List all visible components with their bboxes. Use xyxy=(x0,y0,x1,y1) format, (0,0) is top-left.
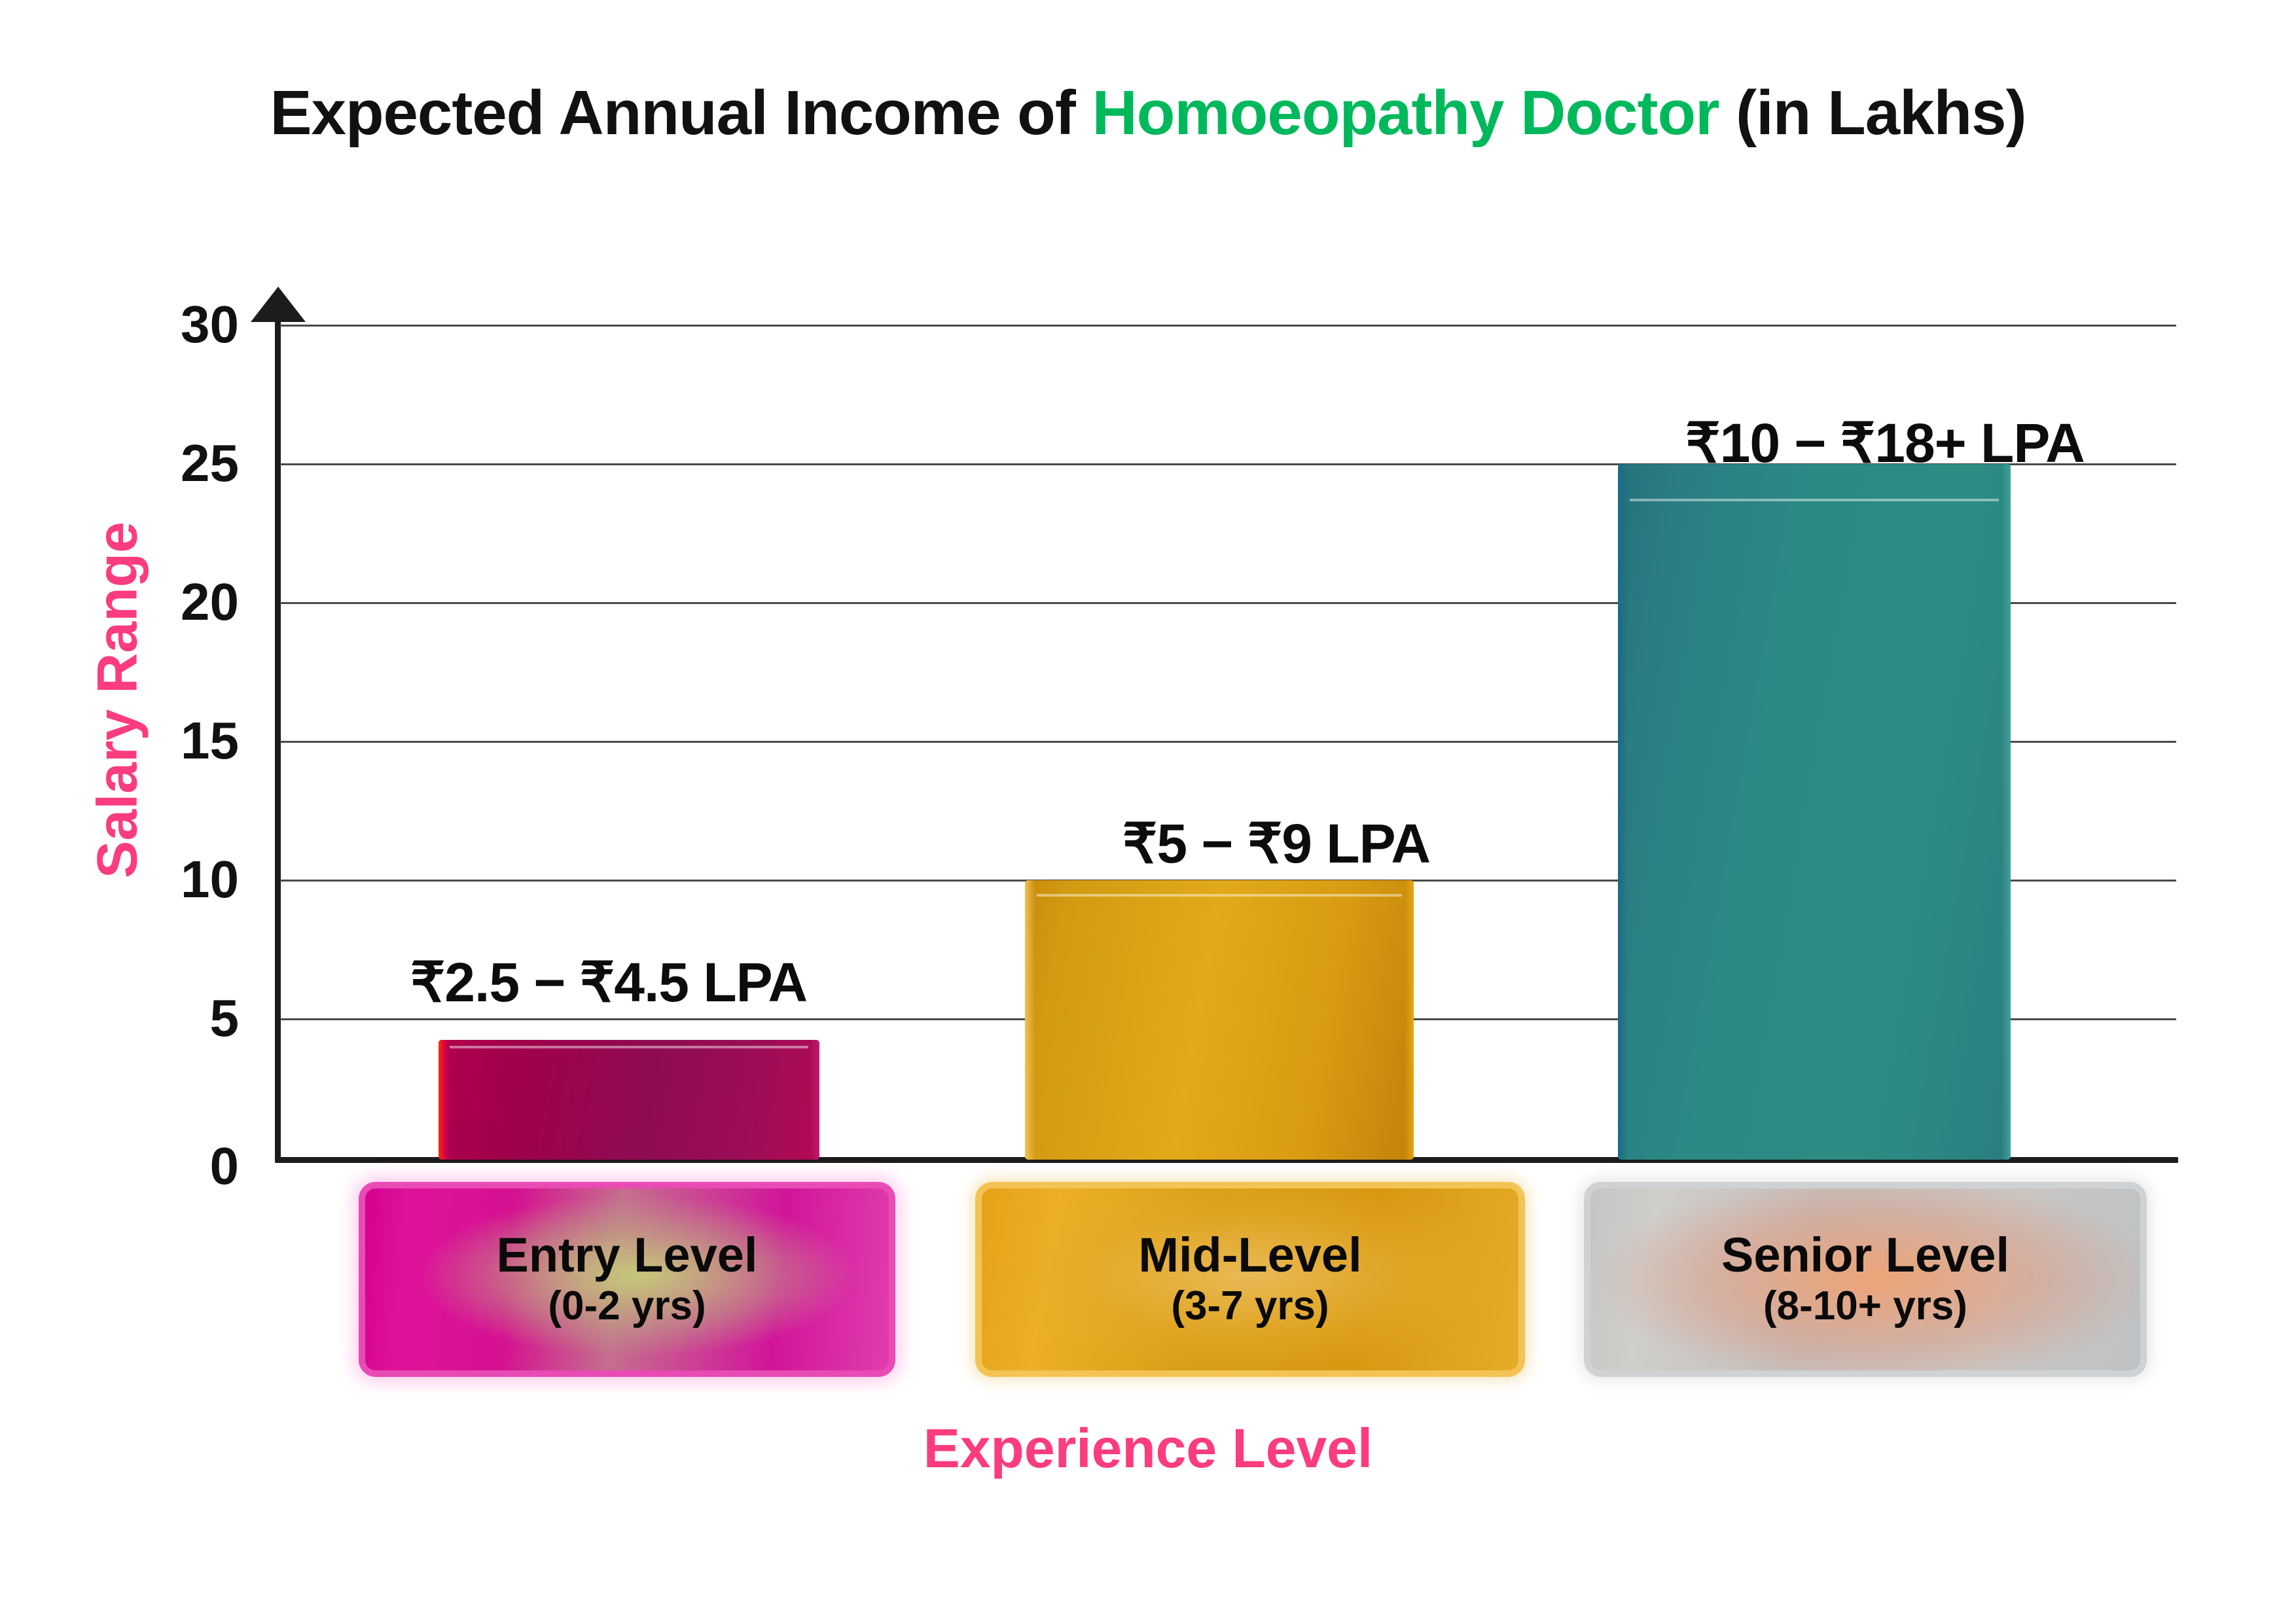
bar-edge-left-mid-level xyxy=(1025,880,1035,1160)
bar-edge-right-mid-level xyxy=(1405,880,1414,1160)
title-text-accent: Homoeopathy Doctor xyxy=(1092,78,1719,148)
bar-value-label-senior-level: ₹10 − ₹18+ LPA xyxy=(1525,411,2245,475)
bar-highlight-mid-level xyxy=(1037,894,1402,897)
bar-edge-left-entry-level xyxy=(439,1040,449,1160)
ytick-label-10: 10 xyxy=(181,853,239,906)
category-label-entry-level: Entry Level xyxy=(497,1230,758,1279)
category-label-senior-level: Senior Level xyxy=(1721,1230,2009,1279)
bar-face-senior-level xyxy=(1618,464,2011,1160)
ytick-label-15: 15 xyxy=(181,715,239,767)
category-years-senior-level: (8-10+ yrs) xyxy=(1763,1284,1967,1329)
title-text-after: (in Lakhs) xyxy=(1719,78,2026,148)
title-text-before: Expected Annual Income of xyxy=(270,78,1092,148)
bar-edge-right-entry-level xyxy=(810,1040,819,1160)
bar-face-mid-level xyxy=(1025,880,1414,1160)
bar-senior-level[interactable] xyxy=(1618,464,2011,1160)
ytick-label-0: 0 xyxy=(210,1140,240,1192)
category-plaque-entry-level[interactable]: Entry Level (0-2 yrs) xyxy=(359,1182,895,1377)
bar-face-entry-level xyxy=(439,1040,819,1160)
bar-edge-right-senior-level xyxy=(2001,464,2011,1160)
bar-value-label-mid-level: ₹5 − ₹9 LPA xyxy=(982,811,1571,876)
bar-highlight-entry-level xyxy=(450,1046,808,1048)
category-years-mid-level: (3-7 yrs) xyxy=(1171,1284,1329,1329)
page-title: Expected Annual Income of Homoeopathy Do… xyxy=(0,77,2296,149)
bar-entry-level[interactable] xyxy=(439,1040,819,1160)
category-plaque-mid-level[interactable]: Mid-Level (3-7 yrs) xyxy=(975,1182,1525,1377)
bar-edge-left-senior-level xyxy=(1618,464,1628,1160)
x-axis-title: Experience Level xyxy=(0,1417,2296,1480)
ytick-label-30: 30 xyxy=(181,298,239,351)
ytick-label-25: 25 xyxy=(181,437,239,490)
bar-mid-level[interactable] xyxy=(1025,880,1414,1160)
category-label-mid-level: Mid-Level xyxy=(1138,1230,1361,1279)
bar-value-label-entry-level: ₹2.5 − ₹4.5 LPA xyxy=(301,950,916,1014)
category-plaque-senior-level[interactable]: Senior Level (8-10+ yrs) xyxy=(1584,1182,2147,1377)
bar-highlight-senior-level xyxy=(1630,499,1999,501)
y-axis-title: Salary Range xyxy=(86,504,151,897)
category-years-entry-level: (0-2 yrs) xyxy=(548,1284,706,1329)
ytick-label-20: 20 xyxy=(181,576,239,628)
ytick-label-5: 5 xyxy=(210,992,240,1044)
